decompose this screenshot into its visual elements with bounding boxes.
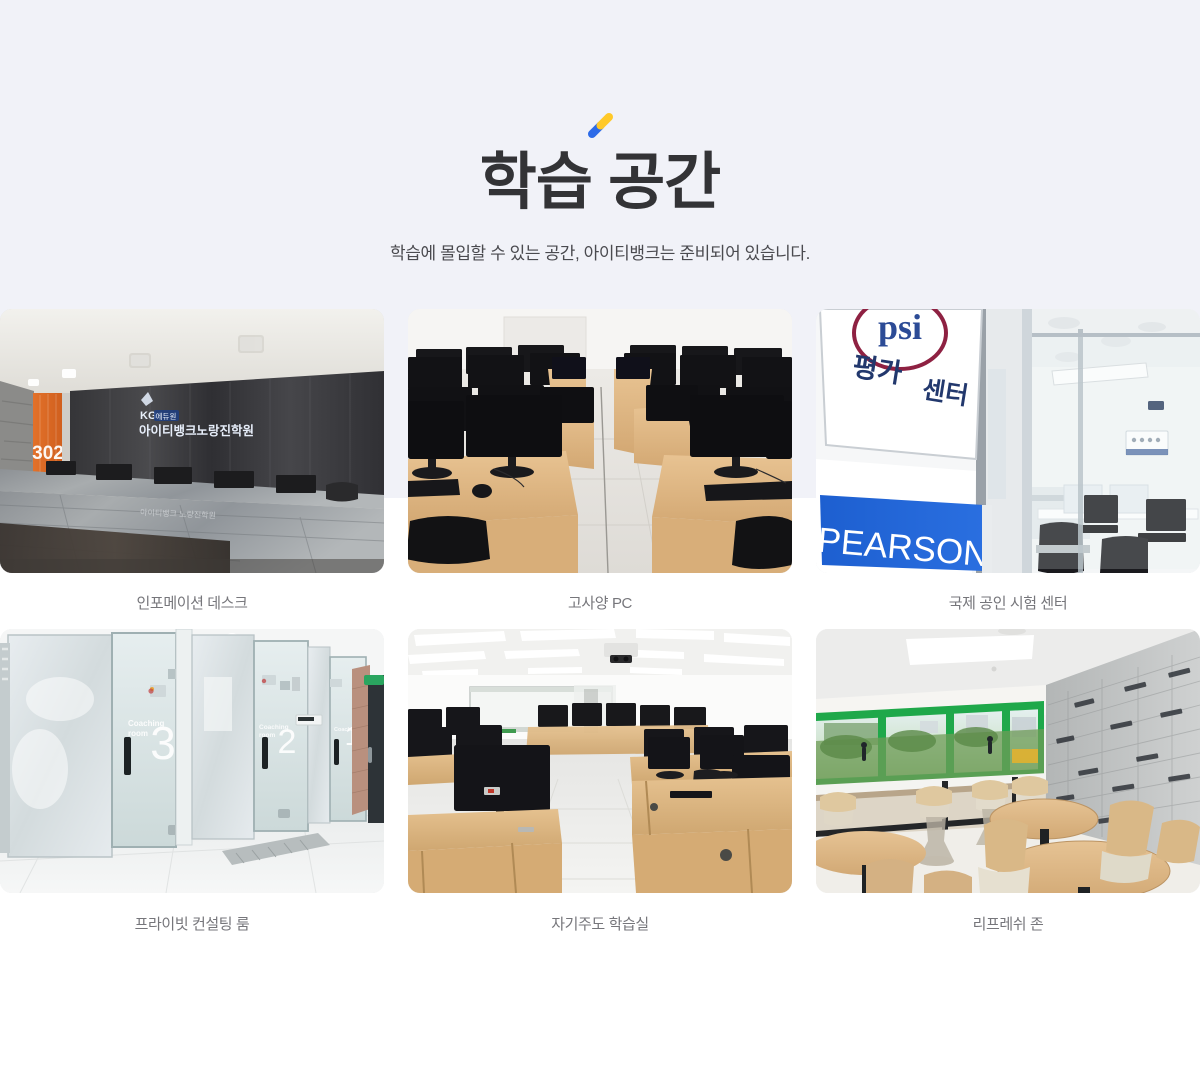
page-subtitle: 학습에 몰입할 수 있는 공간, 아이티뱅크는 준비되어 있습니다. [0, 239, 1200, 264]
self-directed-study-room-photo[interactable] [408, 629, 792, 893]
information-desk-photo[interactable]: 302 KG 에듀원 [0, 309, 384, 573]
page-title: 학습 공간 [0, 148, 1200, 221]
svg-text:아이티뱅크노랑진학원: 아이티뱅크노랑진학원 [139, 423, 254, 438]
refresh-zone-photo[interactable] [816, 629, 1200, 893]
gallery-item-caption: 리프레쉬 존 [816, 893, 1200, 934]
svg-text:2: 2 [278, 723, 297, 761]
high-spec-pc-lab-photo[interactable] [408, 309, 792, 573]
pen-stroke-icon [583, 108, 617, 142]
gallery-item-caption: 자기주도 학습실 [408, 893, 792, 934]
gallery-item[interactable]: Coaching room 3 Coaching [0, 629, 384, 934]
page-root: 학습 공간 학습에 몰입할 수 있는 공간, 아이티뱅크는 준비되어 있습니다. [0, 0, 1200, 934]
svg-text:psi: psi [878, 309, 922, 347]
gallery-item[interactable]: 자기주도 학습실 [408, 629, 792, 934]
gallery-item[interactable]: 302 KG 에듀원 [0, 309, 384, 613]
gallery-item-caption: 고사양 PC [408, 573, 792, 613]
gallery-item[interactable]: 기록실 [816, 309, 1200, 613]
gallery-item-caption: 프라이빗 컨설팅 룸 [0, 893, 384, 934]
gallery-item[interactable]: 리프레쉬 존 [816, 629, 1200, 934]
facility-gallery: 302 KG 에듀원 [0, 309, 1200, 934]
gallery-item-caption: 인포메이션 데스크 [0, 573, 384, 613]
svg-text:3: 3 [150, 717, 176, 769]
gallery-item-caption: 국제 공인 시험 센터 [816, 573, 1200, 613]
svg-text:302: 302 [32, 443, 64, 464]
hero-section: 학습 공간 학습에 몰입할 수 있는 공간, 아이티뱅크는 준비되어 있습니다. [0, 0, 1200, 264]
svg-text:room: room [259, 732, 275, 739]
svg-text:에듀원: 에듀원 [156, 412, 177, 421]
international-test-center-photo[interactable]: 기록실 [816, 309, 1200, 573]
svg-text:room: room [128, 729, 148, 738]
gallery-item[interactable]: 고사양 PC [408, 309, 792, 613]
private-consulting-room-photo[interactable]: Coaching room 3 Coaching [0, 629, 384, 893]
